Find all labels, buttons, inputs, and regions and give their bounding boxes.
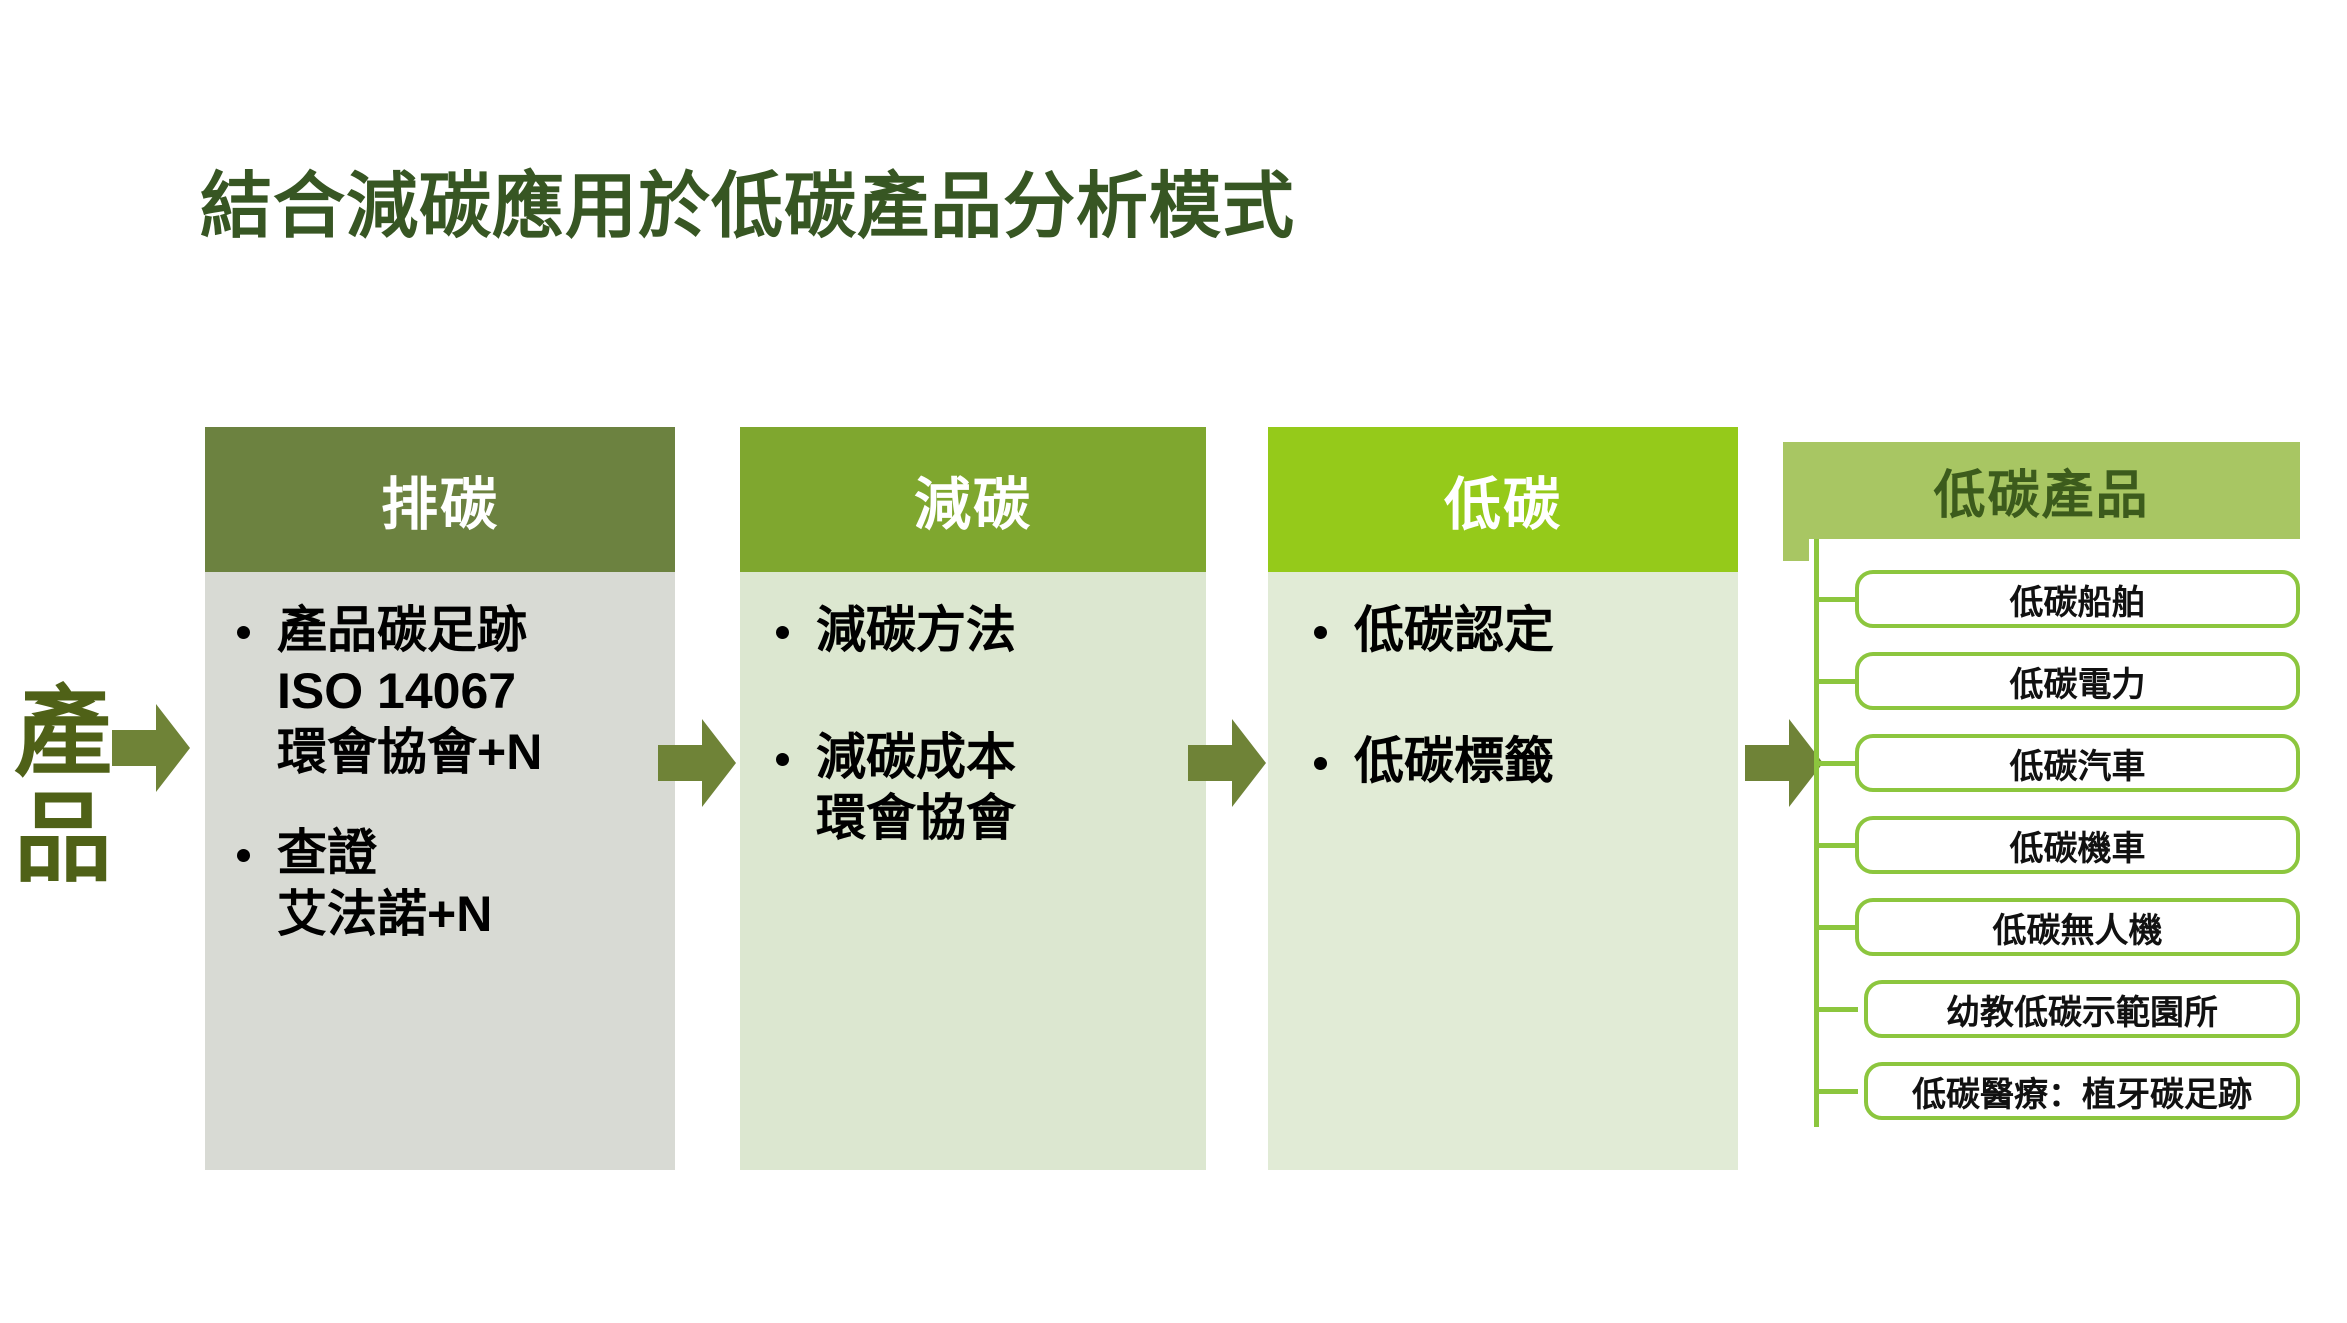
bullet-line: 環會協會	[816, 788, 1206, 849]
bullet-item: 低碳認定	[1288, 600, 1738, 661]
stage-column-di-tan: 低碳 低碳認定 低碳標籤	[1268, 427, 1738, 1170]
stage-header-1: 排碳	[205, 427, 675, 572]
product-item-box[interactable]: 低碳無人機	[1855, 898, 2300, 956]
stage-column-jian-tan: 減碳 減碳方法 減碳成本 環會協會	[740, 427, 1206, 1170]
bullet-dot-icon	[776, 753, 789, 766]
product-item-box[interactable]: 低碳電力	[1855, 652, 2300, 710]
bullet-dot-icon	[1314, 757, 1327, 770]
bullet-dot-icon	[776, 626, 789, 639]
bullet-dot-icon	[237, 626, 250, 639]
bullet-item: 低碳標籤	[1288, 731, 1738, 792]
stage-body-2: 減碳方法 減碳成本 環會協會	[740, 572, 1206, 1170]
bullet-item: 查證 艾法諾+N	[211, 823, 675, 945]
tree-branch-line	[1814, 1007, 1858, 1012]
stage-column-pai-tan: 排碳 產品碳足跡 ISO 14067 環會協會+N 查證 艾法諾+N	[205, 427, 675, 1170]
product-item-box[interactable]: 幼教低碳示範園所	[1864, 980, 2300, 1038]
product-item-box[interactable]: 低碳汽車	[1855, 734, 2300, 792]
bullet-item: 產品碳足跡 ISO 14067 環會協會+N	[211, 600, 675, 783]
tree-branch-line	[1814, 761, 1858, 766]
stage-body-3: 低碳認定 低碳標籤	[1268, 572, 1738, 1170]
tree-branch-line	[1814, 1089, 1858, 1094]
input-label-char-1: 產	[8, 680, 118, 786]
bullet-line: ISO 14067	[277, 661, 675, 722]
panel-header-tab	[1783, 539, 1809, 561]
stage-body-1: 產品碳足跡 ISO 14067 環會協會+N 查證 艾法諾+N	[205, 572, 675, 1170]
bullet-list-1: 產品碳足跡 ISO 14067 環會協會+N 查證 艾法諾+N	[211, 600, 675, 945]
bullet-item: 減碳成本 環會協會	[750, 727, 1206, 849]
page-title: 結合減碳應用於低碳產品分析模式	[200, 168, 1295, 247]
stage-header-2: 減碳	[740, 427, 1206, 572]
tree-branch-line	[1814, 679, 1858, 684]
stage-header-3: 低碳	[1268, 427, 1738, 572]
tree-trunk-line	[1814, 539, 1819, 1127]
bullet-line: 環會協會+N	[277, 722, 675, 783]
bullet-list-2: 減碳方法 減碳成本 環會協會	[750, 600, 1206, 849]
bullet-item: 減碳方法	[750, 600, 1206, 661]
tree-branch-line	[1814, 843, 1858, 848]
bullet-line: 查證	[277, 823, 675, 884]
bullet-line: 減碳成本	[816, 727, 1206, 788]
bullet-line: 低碳標籤	[1354, 731, 1738, 792]
bullet-dot-icon	[237, 849, 250, 862]
bullet-line: 低碳認定	[1354, 600, 1738, 661]
flow-arrow-icon-1	[112, 700, 190, 796]
flow-arrow-icon-2	[658, 715, 736, 811]
bullet-dot-icon	[1314, 626, 1327, 639]
product-item-box[interactable]: 低碳船舶	[1855, 570, 2300, 628]
panel-header-low-carbon-products: 低碳產品	[1783, 442, 2300, 539]
bullet-line: 產品碳足跡	[277, 600, 675, 661]
input-label-product: 產 品	[8, 680, 118, 892]
tree-branch-line	[1814, 925, 1858, 930]
tree-branch-line	[1814, 597, 1858, 602]
product-item-box[interactable]: 低碳醫療：植牙碳足跡	[1864, 1062, 2300, 1120]
input-label-char-2: 品	[8, 786, 118, 892]
low-carbon-product-panel: 低碳產品 低碳船舶 低碳電力 低碳汽車 低碳機車 低碳無人機 幼教低碳示範園所 …	[1783, 442, 2300, 1182]
bullet-line: 艾法諾+N	[277, 884, 675, 945]
product-item-box[interactable]: 低碳機車	[1855, 816, 2300, 874]
flow-arrow-icon-3	[1188, 715, 1266, 811]
bullet-line: 減碳方法	[816, 600, 1206, 661]
bullet-list-3: 低碳認定 低碳標籤	[1288, 600, 1738, 792]
